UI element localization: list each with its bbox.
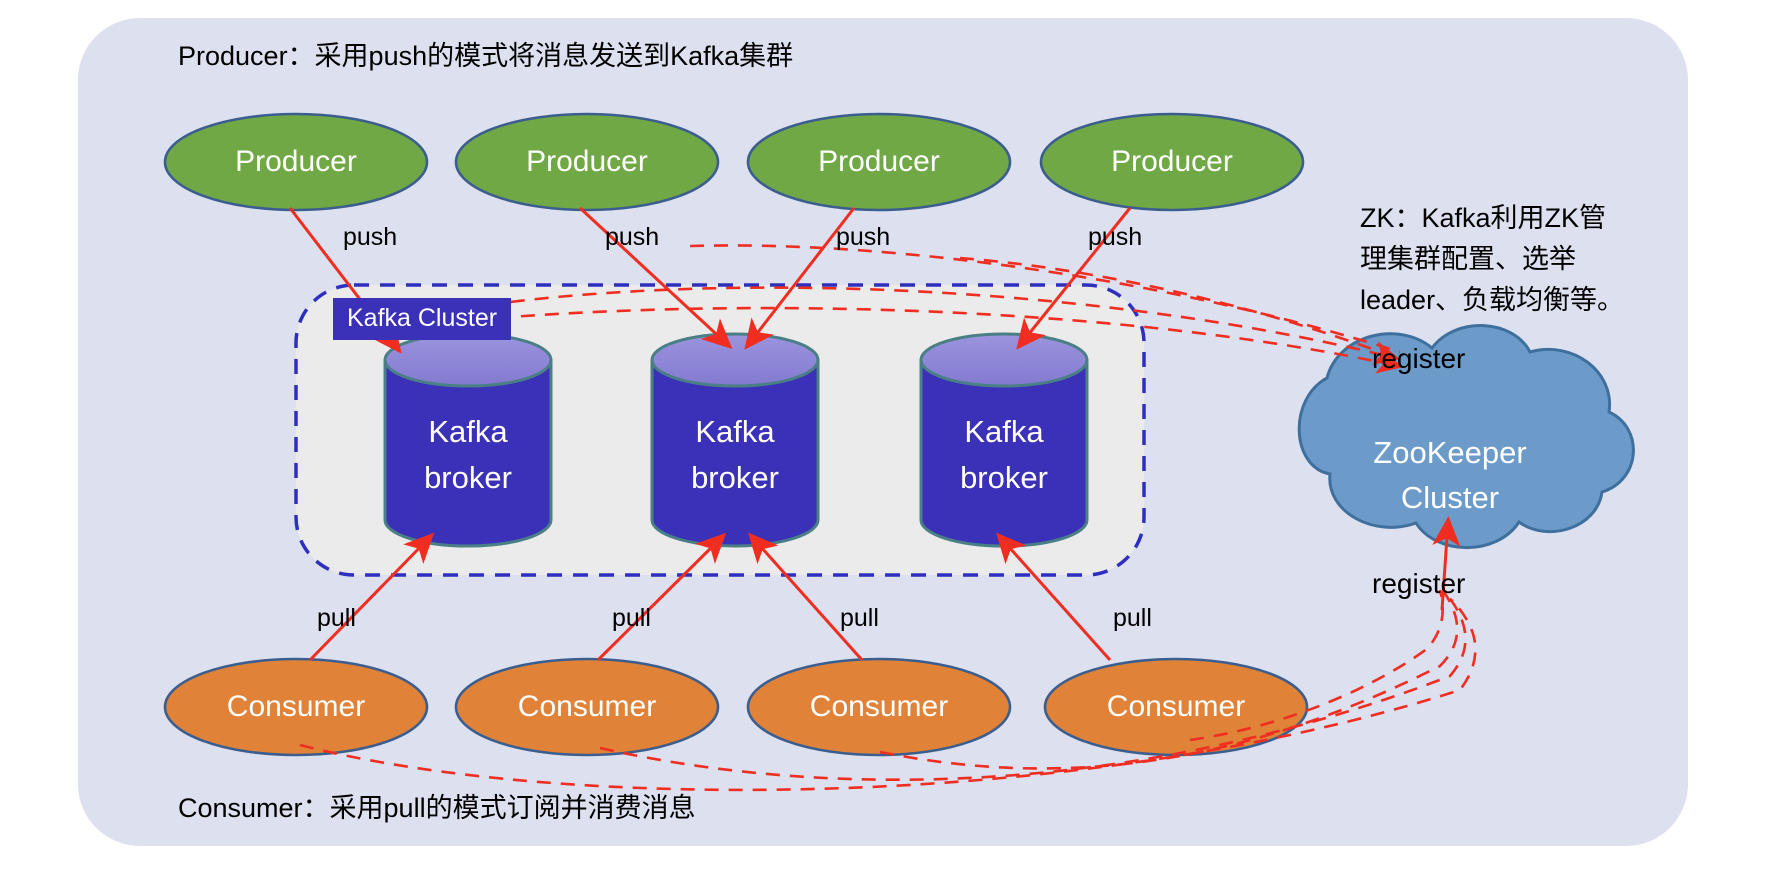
pull-label-2: pull bbox=[612, 604, 651, 632]
zookeeper-caption: ZK：Kafka利用ZK管 理集群配置、选举 leader、负载均衡等。 bbox=[1360, 198, 1624, 321]
diagram-panel-background bbox=[78, 18, 1688, 846]
register-label-top: register bbox=[1372, 345, 1465, 373]
pull-label-3: pull bbox=[840, 604, 879, 632]
producer-caption: Producer：采用push的模式将消息发送到Kafka集群 bbox=[178, 36, 793, 76]
pull-label-1: pull bbox=[317, 604, 356, 632]
push-label-3: push bbox=[836, 223, 890, 251]
kafka-cluster-badge: Kafka Cluster bbox=[333, 298, 511, 340]
pull-label-4: pull bbox=[1113, 604, 1152, 632]
diagram-canvas: Producer：采用push的模式将消息发送到Kafka集群 Consumer… bbox=[0, 0, 1766, 874]
push-label-1: push bbox=[343, 223, 397, 251]
push-label-2: push bbox=[605, 223, 659, 251]
consumer-caption: Consumer：采用pull的模式订阅并消费消息 bbox=[178, 788, 696, 828]
register-label-bottom: register bbox=[1372, 570, 1465, 598]
push-label-4: push bbox=[1088, 223, 1142, 251]
